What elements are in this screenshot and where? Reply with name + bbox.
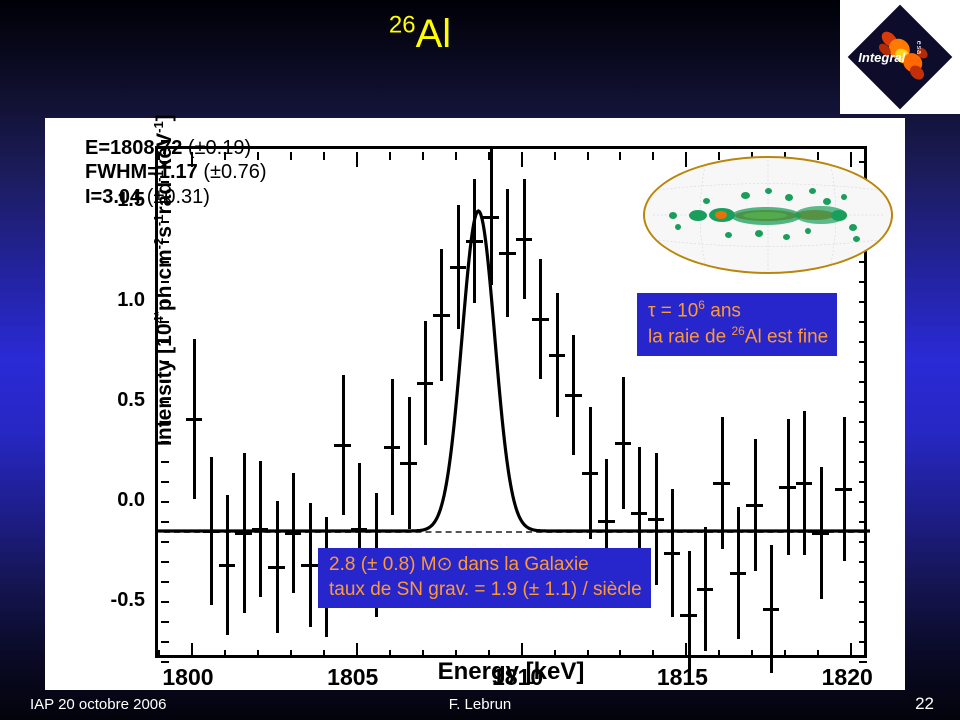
axis-tick bbox=[619, 650, 621, 658]
axis-tick bbox=[859, 281, 867, 283]
axis-tick bbox=[161, 381, 169, 383]
axis-tick bbox=[859, 321, 867, 323]
axis-tick bbox=[859, 441, 867, 443]
axis-tick bbox=[161, 361, 169, 363]
ann2-line1: 2.8 (± 0.8) M⊙ dans la Galaxie bbox=[329, 553, 642, 578]
axis-tick bbox=[323, 152, 325, 160]
axis-tick bbox=[161, 281, 169, 283]
axis-tick bbox=[161, 481, 169, 483]
axis-tick bbox=[859, 541, 867, 543]
spectrum-plot-panel: Intensity [104*ph cm-2s-1rad-1keV-1] Ene… bbox=[45, 118, 905, 690]
axis-tick bbox=[161, 581, 169, 583]
y-axis-tick-label: 1.0 bbox=[69, 290, 145, 310]
annotation-lifetime: τ = 106 ans la raie de 26Al est fine bbox=[637, 293, 837, 356]
axis-tick bbox=[161, 501, 169, 503]
x-axis-tick-label: 1815 bbox=[632, 666, 732, 689]
axis-tick bbox=[422, 152, 424, 160]
logo-diamond: esa Integral bbox=[848, 5, 953, 110]
axis-tick bbox=[356, 152, 358, 167]
axis-tick bbox=[290, 650, 292, 658]
ann1-exp: 6 bbox=[698, 298, 705, 312]
axis-tick bbox=[859, 501, 867, 503]
page-title: 26Al bbox=[0, 14, 840, 54]
axis-tick bbox=[859, 381, 867, 383]
integral-wordmark: Integral bbox=[858, 50, 905, 65]
fit-fwhm-error: (±0.76) bbox=[198, 161, 267, 183]
axis-tick bbox=[323, 650, 325, 658]
axis-tick bbox=[161, 561, 169, 563]
axis-tick bbox=[161, 641, 169, 643]
axis-tick bbox=[685, 643, 687, 658]
axis-tick bbox=[859, 341, 867, 343]
y-axis-tick-label: -0.5 bbox=[69, 590, 145, 610]
aitoff-ellipse: INTEGRAL/SPI bbox=[643, 156, 893, 274]
y-axis-tick-label: 0.5 bbox=[69, 390, 145, 410]
axis-tick bbox=[859, 581, 867, 583]
axis-tick bbox=[859, 461, 867, 463]
integral-esa-logo: esa Integral bbox=[840, 0, 960, 114]
ann1b-post: Al est fine bbox=[745, 326, 828, 347]
fit-energy-error: (±0.19) bbox=[182, 137, 251, 159]
axis-tick bbox=[161, 401, 169, 403]
title-mass-number: 26 bbox=[389, 12, 416, 39]
axis-tick bbox=[389, 650, 391, 658]
fit-intensity-error: (±0.31) bbox=[141, 186, 210, 208]
axis-tick bbox=[161, 421, 169, 423]
axis-tick bbox=[488, 650, 490, 658]
esa-wordmark: esa bbox=[915, 41, 922, 55]
axis-tick bbox=[587, 650, 589, 658]
axis-tick bbox=[191, 643, 193, 658]
axis-tick bbox=[161, 541, 169, 543]
axis-tick bbox=[554, 152, 556, 160]
axis-tick bbox=[652, 650, 654, 658]
axis-tick bbox=[718, 650, 720, 658]
axis-tick bbox=[488, 152, 490, 160]
axis-tick bbox=[389, 152, 391, 160]
axis-tick bbox=[356, 643, 358, 658]
axis-tick bbox=[161, 341, 169, 343]
axis-tick bbox=[859, 561, 867, 563]
axis-tick bbox=[587, 152, 589, 160]
axis-tick bbox=[455, 152, 457, 160]
ann1b-sup: 26 bbox=[731, 324, 744, 338]
axis-tick bbox=[521, 152, 523, 167]
axis-tick bbox=[161, 241, 169, 243]
axis-tick bbox=[161, 301, 169, 303]
axis-tick bbox=[619, 152, 621, 160]
axis-tick bbox=[859, 301, 867, 303]
footer-page-number: 22 bbox=[915, 694, 934, 714]
ann2-line2: taux de SN grav. = 1.9 (± 1.1) / siècle bbox=[329, 578, 642, 603]
axis-tick bbox=[859, 641, 867, 643]
skymap-credit: INTEGRAL/SPI bbox=[856, 262, 877, 266]
footer-author: F. Lebrun bbox=[0, 696, 960, 713]
axis-tick bbox=[751, 650, 753, 658]
ann1-pre: τ = 10 bbox=[648, 300, 698, 321]
axis-tick bbox=[161, 601, 169, 603]
x-axis-tick-label: 1805 bbox=[303, 666, 403, 689]
axis-tick bbox=[859, 481, 867, 483]
slide-footer: IAP 20 octobre 2006 F. Lebrun 22 bbox=[0, 690, 960, 720]
axis-tick bbox=[158, 650, 160, 658]
axis-tick bbox=[257, 650, 259, 658]
all-sky-map-inset: INTEGRAL/SPI bbox=[643, 156, 893, 274]
ann1b-pre: la raie de bbox=[648, 326, 731, 347]
fit-fwhm-value: FWHM=1.17 bbox=[85, 161, 198, 183]
axis-tick bbox=[859, 521, 867, 523]
x-axis-tick-label: 1810 bbox=[468, 666, 568, 689]
ann1-post: ans bbox=[705, 300, 741, 321]
x-axis-tick-label: 1800 bbox=[138, 666, 238, 689]
axis-tick bbox=[784, 650, 786, 658]
axis-tick bbox=[161, 221, 169, 223]
axis-tick bbox=[817, 650, 819, 658]
axis-tick bbox=[422, 650, 424, 658]
axis-tick bbox=[161, 621, 169, 623]
x-axis-tick-label: 1820 bbox=[797, 666, 897, 689]
fit-energy-value: E=1808.72 bbox=[85, 137, 182, 159]
axis-tick bbox=[850, 643, 852, 658]
axis-tick bbox=[224, 650, 226, 658]
axis-tick bbox=[859, 401, 867, 403]
axis-tick bbox=[859, 621, 867, 623]
axis-tick bbox=[161, 521, 169, 523]
axis-tick bbox=[859, 361, 867, 363]
title-element-symbol: Al bbox=[416, 12, 452, 56]
axis-tick bbox=[161, 461, 169, 463]
y-axis-tick-label: 1.5 bbox=[69, 190, 145, 210]
axis-tick bbox=[521, 643, 523, 658]
axis-tick bbox=[161, 261, 169, 263]
annotation-mass-rate: 2.8 (± 0.8) M⊙ dans la Galaxie taux de S… bbox=[318, 548, 651, 608]
y-axis-tick-label: 0.0 bbox=[69, 490, 145, 510]
axis-tick bbox=[455, 650, 457, 658]
slide-root: 26Al esa Integral Intensity [104*ph cm-2… bbox=[0, 0, 960, 720]
axis-tick bbox=[554, 650, 556, 658]
axis-tick bbox=[290, 152, 292, 160]
axis-tick bbox=[859, 421, 867, 423]
axis-tick bbox=[161, 441, 169, 443]
axis-tick bbox=[859, 601, 867, 603]
axis-tick bbox=[161, 321, 169, 323]
